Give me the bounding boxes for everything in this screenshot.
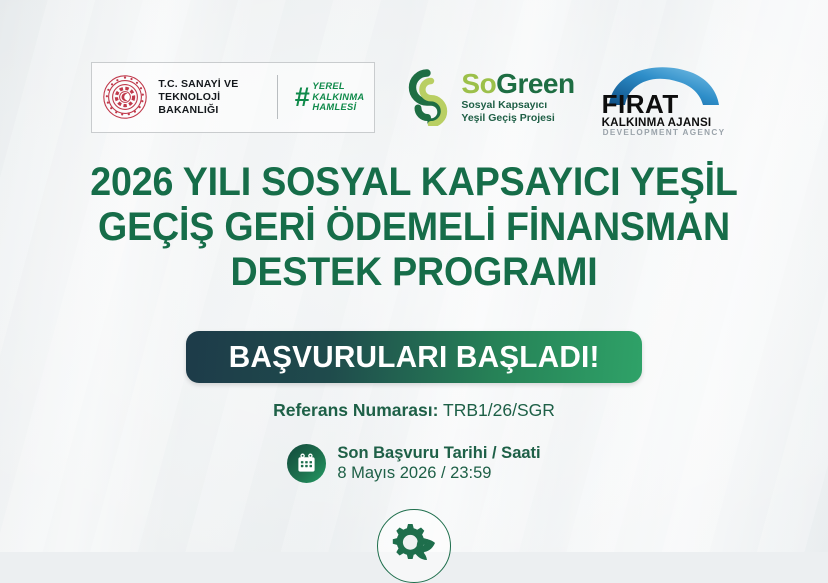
logo-strip: T.C. SANAYİ VE TEKNOLOJİ BAKANLIĞI # YER… [0, 57, 828, 137]
firat-title: FIRAT [602, 91, 679, 117]
sogreen-wordmark: SoGreen Sosyal Kapsayıcı Yeşil Geçiş Pro… [461, 70, 574, 124]
hashtag-lines: YEREL KALKINMA HAMLESİ [312, 81, 364, 113]
turkish-ministry-seal-icon [102, 74, 148, 120]
reference-number: Referans Numarası: TRB1/26/SGR [0, 399, 828, 421]
status-badge-label: BAŞVURULARI BAŞLADI! [229, 339, 600, 375]
page-title-line-2: GEÇİŞ GERİ ÖDEMELİ FİNANSMAN [25, 205, 803, 250]
deadline-value: 8 Mayıs 2026 / 23:59 [337, 463, 540, 484]
status-badge: BAŞVURULARI BAŞLADI! [186, 331, 642, 383]
calendar-icon [287, 444, 326, 483]
poster-canvas: T.C. SANAYİ VE TEKNOLOJİ BAKANLIĞI # YER… [0, 0, 828, 552]
logo-divider [277, 75, 278, 119]
reference-number-label: Referans Numarası: [273, 400, 438, 420]
ministry-logo: T.C. SANAYİ VE TEKNOLOJİ BAKANLIĞI # YER… [91, 62, 375, 133]
hashtag-icon: # [294, 84, 309, 111]
firat-kalkinma-ajansi-logo: FIRAT KALKINMA AJANSI DEVELOPMENT AGENCY [597, 61, 737, 133]
deadline-block: Son Başvuru Tarihi / Saati 8 Mayıs 2026 … [0, 443, 828, 484]
page-title-line-3: DESTEK PROGRAMI [25, 250, 803, 295]
firat-english-subtitle: DEVELOPMENT AGENCY [603, 128, 726, 137]
page-title: 2026 YILI SOSYAL KAPSAYICI YEŞİL GEÇİŞ G… [25, 160, 803, 295]
ministry-title: T.C. SANAYİ VE TEKNOLOJİ BAKANLIĞI [158, 78, 259, 117]
page-title-line-1: 2026 YILI SOSYAL KAPSAYICI YEŞİL [25, 160, 803, 205]
sogreen-spiral-icon [397, 68, 453, 126]
sogreen-logo: SoGreen Sosyal Kapsayıcı Yeşil Geçiş Pro… [397, 68, 574, 126]
deadline-label: Son Başvuru Tarihi / Saati [337, 443, 540, 463]
reference-number-value: TRB1/26/SGR [443, 400, 555, 420]
sogreen-tagline: Sosyal Kapsayıcı Yeşil Geçiş Projesi [461, 99, 574, 124]
deadline-text: Son Başvuru Tarihi / Saati 8 Mayıs 2026 … [337, 443, 540, 484]
yerel-kalkinma-hamlesi-logo: # YEREL KALKINMA HAMLESİ [294, 81, 364, 113]
gear-leaf-icon [377, 509, 451, 583]
sogreen-word-green: Green [496, 68, 574, 99]
sogreen-word-so: So [461, 68, 496, 99]
